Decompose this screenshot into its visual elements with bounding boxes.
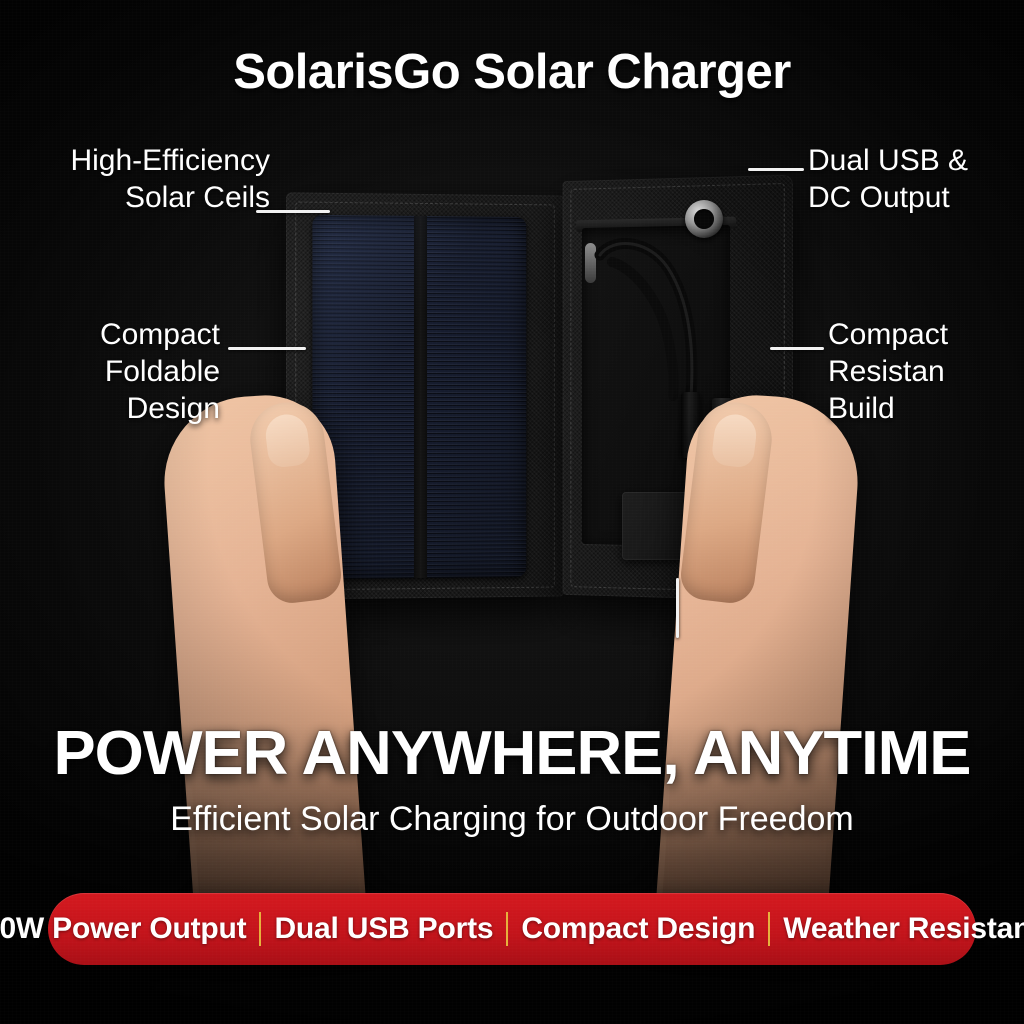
leader-line-resistant-build <box>770 347 824 350</box>
feature-item: Weather Resistant <box>770 912 1024 946</box>
callout-compact-foldable-design: Compact Foldable Design <box>30 316 220 427</box>
callout-compact-resistant-build: Compact Resistan Build <box>828 316 1018 427</box>
callout-high-efficiency-solar-cells: High-Efficiency Solar Ceils <box>30 142 270 216</box>
main-headline: POWER ANYWHERE, ANYTIME <box>0 718 1024 789</box>
feature-item: 60W Power Output <box>0 912 259 946</box>
page-title: SolarisGo Solar Charger <box>0 44 1024 100</box>
leader-line-dual-usb <box>748 168 804 171</box>
feature-list: 60W Power OutputDual USB PortsCompact De… <box>0 912 1024 946</box>
left-thumbnail <box>263 412 311 469</box>
right-thumbnail <box>711 412 759 469</box>
leader-line-solar-cells <box>256 210 330 213</box>
callout-dual-usb-dc-output: Dual USB & DC Output <box>808 142 1023 216</box>
feature-banner: 60W Power OutputDual USB PortsCompact De… <box>48 893 976 965</box>
sub-headline: Efficient Solar Charging for Outdoor Fre… <box>0 800 1024 839</box>
feature-item: Compact Design <box>508 912 768 946</box>
product-advertisement-poster: SolarisGo Solar Charger High-Efficiency … <box>0 0 1024 1024</box>
feature-item: Dual USB Ports <box>261 912 506 946</box>
leader-line-foldable-design <box>228 347 306 350</box>
leader-line-strap <box>676 578 679 638</box>
